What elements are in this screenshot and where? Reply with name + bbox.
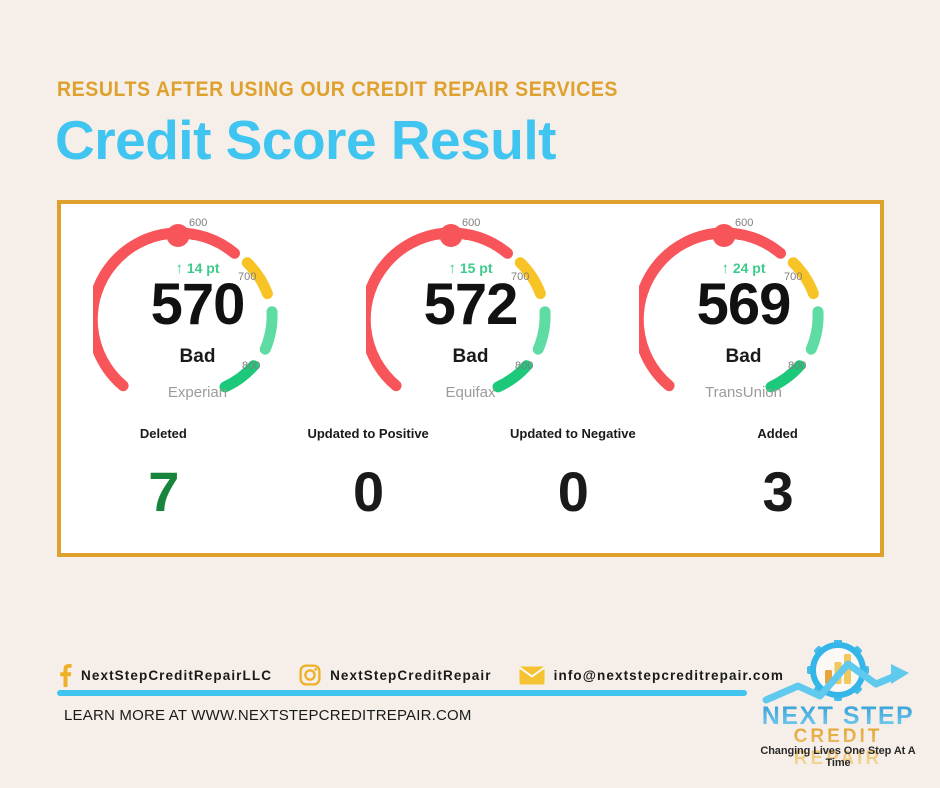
gauge-bureau-equifax: Equifax (334, 384, 607, 401)
stats-row: Deleted 7 Updated to Positive 0 Updated … (61, 426, 880, 522)
social-contact-bar: NextStepCreditRepairLLC NextStepCreditRe… (57, 663, 784, 687)
stat-updated-to-positive: Updated to Positive 0 (266, 426, 471, 522)
stat-value: 3 (675, 463, 880, 522)
gauge-tick-600: 600 (462, 217, 480, 229)
gauge-score-experian: 570 (61, 276, 334, 334)
facebook-icon[interactable] (57, 663, 72, 687)
gauge-bureau-transunion: TransUnion (607, 384, 880, 401)
stat-label: Updated to Negative (471, 426, 676, 441)
logo-gear-chart-icon (748, 640, 928, 706)
gauge-rating-equifax: Bad (334, 346, 607, 368)
stat-label: Updated to Positive (266, 426, 471, 441)
logo-tagline: Changing Lives One Step At A Time (748, 745, 928, 769)
learn-more-text[interactable]: LEARN MORE AT WWW.NEXTSTEPCREDITREPAIR.C… (64, 707, 472, 724)
gauge-tick-600: 600 (735, 217, 753, 229)
gauge-needle-experian (166, 224, 189, 247)
stat-updated-to-negative: Updated to Negative 0 (471, 426, 676, 522)
stat-added: Added 3 (675, 426, 880, 522)
page-eyebrow: RESULTS AFTER USING OUR CREDIT REPAIR SE… (57, 78, 618, 102)
email-icon[interactable] (519, 666, 545, 685)
gauge-bureau-experian: Experian (61, 384, 334, 401)
stat-value: 0 (471, 463, 676, 522)
gauge-experian: 600 700 800 ↑ 14 pt 570 Bad Experian (61, 204, 334, 419)
gauge-needle-equifax (439, 224, 462, 247)
gauge-tick-600: 600 (189, 217, 207, 229)
stat-deleted: Deleted 7 (61, 426, 266, 522)
footer-divider (57, 690, 747, 696)
gauge-row: 600 700 800 ↑ 14 pt 570 Bad Experian 600… (61, 204, 880, 419)
gauge-needle-transunion (712, 224, 735, 247)
gauge-equifax: 600 700 800 ↑ 15 pt 572 Bad Equifax (334, 204, 607, 419)
gauge-rating-experian: Bad (61, 346, 334, 368)
gauge-score-equifax: 572 (334, 276, 607, 334)
results-card: 600 700 800 ↑ 14 pt 570 Bad Experian 600… (57, 200, 884, 557)
stat-label: Added (675, 426, 880, 441)
instagram-handle[interactable]: NextStepCreditRepair (330, 668, 492, 683)
stat-value: 0 (266, 463, 471, 522)
instagram-icon[interactable] (299, 664, 321, 686)
page-title: Credit Score Result (55, 108, 556, 172)
stat-label: Deleted (61, 426, 266, 441)
gauge-rating-transunion: Bad (607, 346, 880, 368)
company-logo: NEXT STEP CREDIT REPAIR Changing Lives O… (748, 640, 928, 760)
gauge-transunion: 600 700 800 ↑ 24 pt 569 Bad TransUnion (607, 204, 880, 419)
gauge-score-transunion: 569 (607, 276, 880, 334)
facebook-handle[interactable]: NextStepCreditRepairLLC (81, 668, 272, 683)
stat-value: 7 (61, 463, 266, 522)
